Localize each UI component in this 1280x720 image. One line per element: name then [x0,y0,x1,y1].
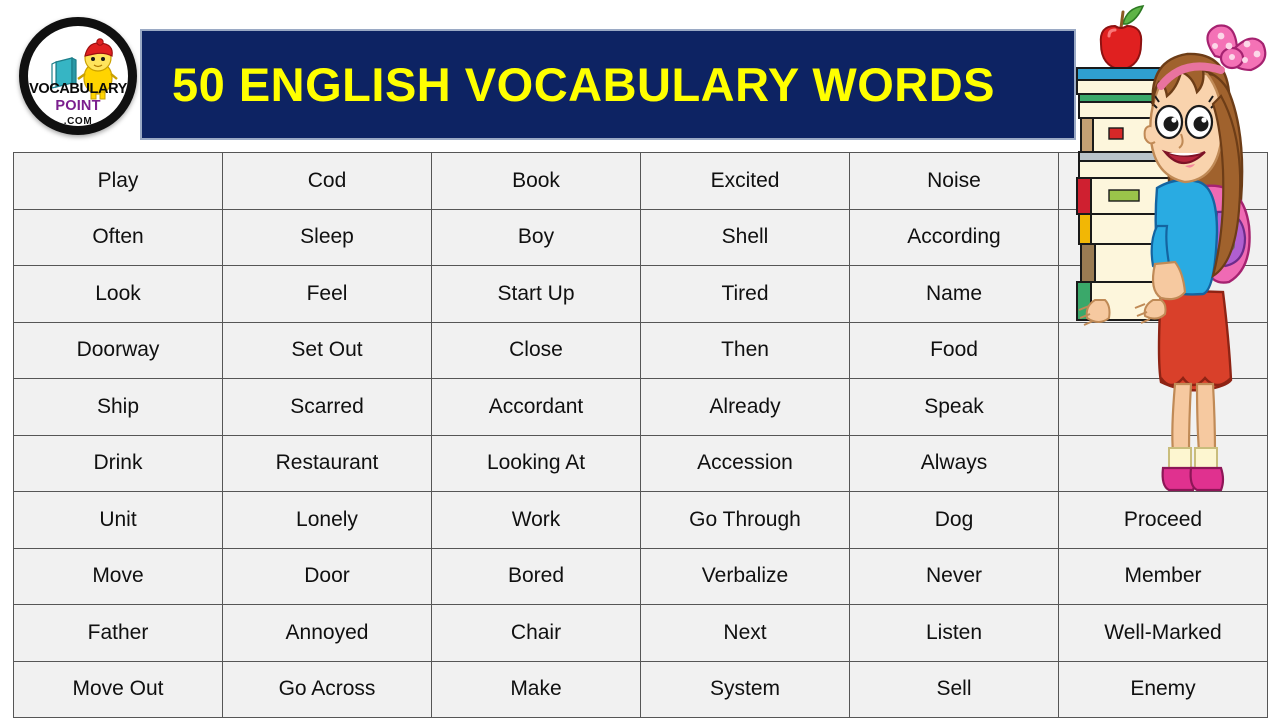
vocab-word-cell: Excited [641,153,850,210]
table-row: OftenSleepBoyShellAccording [14,209,1268,266]
vocab-word-cell: Listen [850,605,1059,662]
vocab-word-cell: Work [432,492,641,549]
vocab-word-cell: Dog [850,492,1059,549]
empty-cell [1059,266,1268,323]
table-row: PlayCodBookExcitedNoise [14,153,1268,210]
vocab-word-cell: Speak [850,379,1059,436]
vocab-word-cell: Lonely [223,492,432,549]
vocab-word-cell: Father [14,605,223,662]
vocab-word-cell: Unit [14,492,223,549]
vocab-word-cell: Play [14,153,223,210]
vocab-word-cell: Close [432,322,641,379]
vocab-word-cell: Go Across [223,661,432,718]
vocab-word-cell: Looking At [432,435,641,492]
page-header: 50 ENGLISH VOCABULARY WORDS [0,0,1280,150]
vocab-word-cell: Verbalize [641,548,850,605]
logo-text-dotcom: .COM [28,116,128,127]
table-row: FatherAnnoyedChairNextListenWell-Marked [14,605,1268,662]
vocab-word-cell: Make [432,661,641,718]
vocab-word-cell: Move [14,548,223,605]
vocab-word-cell: Book [432,153,641,210]
vocab-word-cell: Noise [850,153,1059,210]
empty-cell [1059,153,1268,210]
logo-text-vocabulary: VOCABULARY [28,81,128,97]
vocab-word-cell: Look [14,266,223,323]
vocab-word-cell: Feel [223,266,432,323]
table-row: DrinkRestaurantLooking AtAccessionAlways [14,435,1268,492]
vocab-word-cell: Sleep [223,209,432,266]
vocab-word-cell: Often [14,209,223,266]
title-banner: 50 ENGLISH VOCABULARY WORDS [140,29,1076,140]
vocab-word-cell: Shell [641,209,850,266]
table-row: ShipScarredAccordantAlreadySpeak [14,379,1268,436]
table-row: MoveDoorBoredVerbalizeNeverMember [14,548,1268,605]
vocab-word-cell: Sell [850,661,1059,718]
empty-cell [1059,322,1268,379]
logo-text-point: POINT [28,98,128,114]
vocab-word-cell: Already [641,379,850,436]
table-row: UnitLonelyWorkGo ThroughDogProceed [14,492,1268,549]
vocab-word-cell: Scarred [223,379,432,436]
vocab-word-cell: Accession [641,435,850,492]
vocab-word-cell: Then [641,322,850,379]
vocab-word-cell: Accordant [432,379,641,436]
vocab-word-cell: Name [850,266,1059,323]
vocab-word-cell: Food [850,322,1059,379]
vocab-word-cell: Annoyed [223,605,432,662]
vocab-word-cell: Next [641,605,850,662]
vocab-word-cell: Set Out [223,322,432,379]
vocab-word-cell: Restaurant [223,435,432,492]
vocab-word-cell: Ship [14,379,223,436]
vocabulary-point-logo[interactable]: VOCABULARY POINT .COM [16,14,146,144]
vocab-word-cell: Cod [223,153,432,210]
vocab-word-cell: Tired [641,266,850,323]
vocab-word-cell: Start Up [432,266,641,323]
table-row: Move OutGo AcrossMakeSystemSellEnemy [14,661,1268,718]
vocab-word-cell: Move Out [14,661,223,718]
vocab-word-cell: Drink [14,435,223,492]
table-row: DoorwaySet OutCloseThenFood [14,322,1268,379]
vocab-word-cell: Proceed [1059,492,1268,549]
page-title: 50 ENGLISH VOCABULARY WORDS [142,57,995,112]
empty-cell [1059,435,1268,492]
vocab-word-cell: Bored [432,548,641,605]
vocab-word-cell: Always [850,435,1059,492]
vocabulary-words-table: PlayCodBookExcitedNoiseOftenSleepBoyShel… [13,152,1268,718]
vocab-word-cell: Member [1059,548,1268,605]
table-row: LookFeelStart UpTiredName [14,266,1268,323]
vocab-word-cell: System [641,661,850,718]
empty-cell [1059,379,1268,436]
vocab-word-cell: According [850,209,1059,266]
vocab-word-cell: Door [223,548,432,605]
logo-ring: VOCABULARY POINT .COM [19,17,137,135]
vocab-word-cell: Well-Marked [1059,605,1268,662]
vocab-word-cell: Go Through [641,492,850,549]
vocab-word-cell: Boy [432,209,641,266]
vocab-word-cell: Enemy [1059,661,1268,718]
table-body: PlayCodBookExcitedNoiseOftenSleepBoyShel… [14,153,1268,718]
empty-cell [1059,209,1268,266]
vocab-word-cell: Never [850,548,1059,605]
vocab-word-cell: Chair [432,605,641,662]
vocab-word-cell: Doorway [14,322,223,379]
